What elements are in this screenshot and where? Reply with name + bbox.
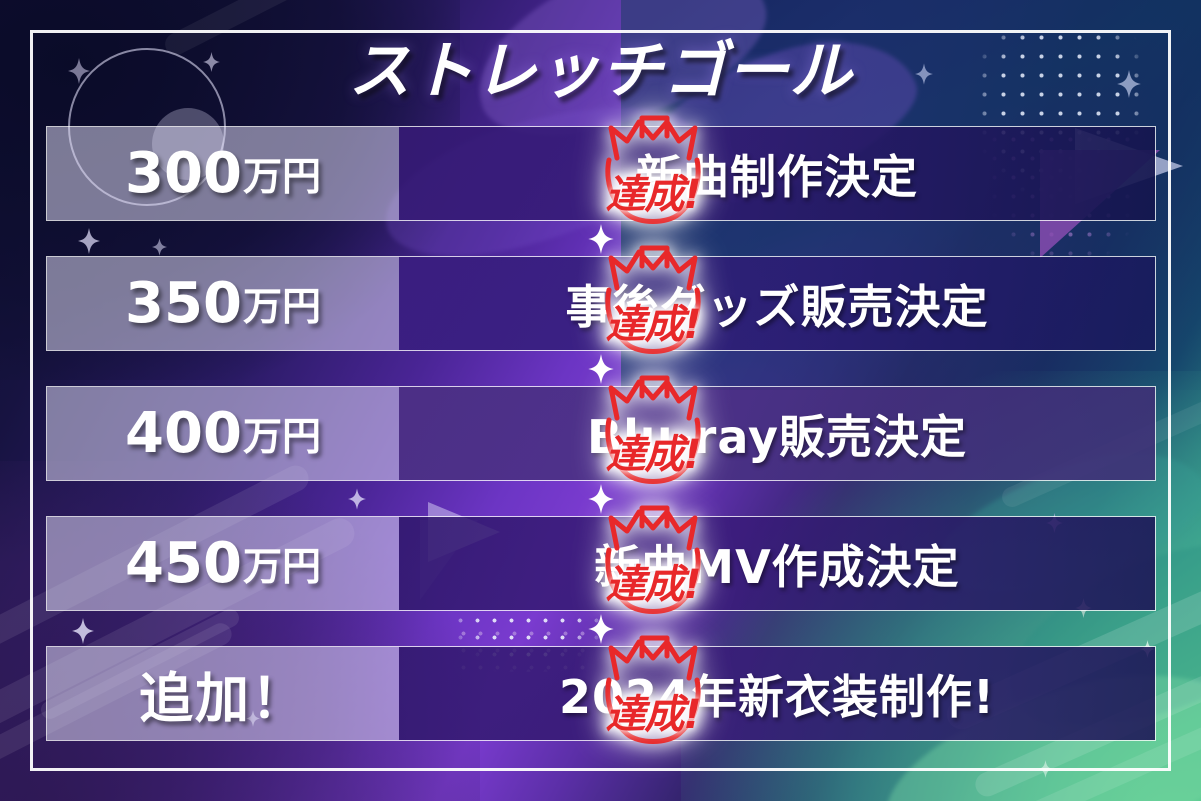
goal-amount-number: 400 xyxy=(125,401,242,466)
goal-amount-number: 追加！ xyxy=(139,654,307,733)
goal-description: 新曲MV作成決定 xyxy=(399,517,1155,610)
goal-amount: 400万円 xyxy=(47,387,399,480)
sparkle-icon xyxy=(588,614,614,644)
goal-amount-unit: 万円 xyxy=(243,146,321,202)
goal-amount-unit: 万円 xyxy=(243,406,321,462)
page-title: ストレッチゴール xyxy=(0,40,1201,102)
goal-list: 300万円 新曲制作決定 達成! 350万円 事後 xyxy=(46,126,1156,741)
row-separator xyxy=(46,351,1156,386)
goal-row: 450万円 新曲MV作成決定 達成! xyxy=(46,516,1156,611)
goal-description: Blu-ray販売決定 xyxy=(399,387,1155,480)
goal-row: 300万円 新曲制作決定 達成! xyxy=(46,126,1156,221)
goal-amount-unit: 万円 xyxy=(243,536,321,592)
goal-amount: 300万円 xyxy=(47,127,399,220)
goal-amount-number: 450 xyxy=(125,531,242,596)
row-separator xyxy=(46,221,1156,256)
goal-amount-number: 350 xyxy=(125,271,242,336)
row-separator xyxy=(46,481,1156,516)
goal-amount: 追加！ xyxy=(47,647,399,740)
sparkle-icon xyxy=(588,224,614,254)
goal-amount-number: 300 xyxy=(125,141,242,206)
sparkle-icon xyxy=(588,354,614,384)
goal-description: 新曲制作決定 xyxy=(399,127,1155,220)
goal-row: 400万円 Blu-ray販売決定 達成! xyxy=(46,386,1156,481)
goal-description: 事後グッズ販売決定 xyxy=(399,257,1155,350)
goal-description: 2024年新衣装制作! xyxy=(399,647,1155,740)
row-separator xyxy=(46,611,1156,646)
goal-amount: 450万円 xyxy=(47,517,399,610)
goal-row: 350万円 事後グッズ販売決定 達成! xyxy=(46,256,1156,351)
sparkle-icon xyxy=(588,484,614,514)
stretch-goal-banner: ストレッチゴール 300万円 新曲制作決定 達成! xyxy=(0,0,1201,801)
goal-amount: 350万円 xyxy=(47,257,399,350)
goal-row: 追加！ 2024年新衣装制作! 達成! xyxy=(46,646,1156,741)
goal-amount-unit: 万円 xyxy=(243,276,321,332)
